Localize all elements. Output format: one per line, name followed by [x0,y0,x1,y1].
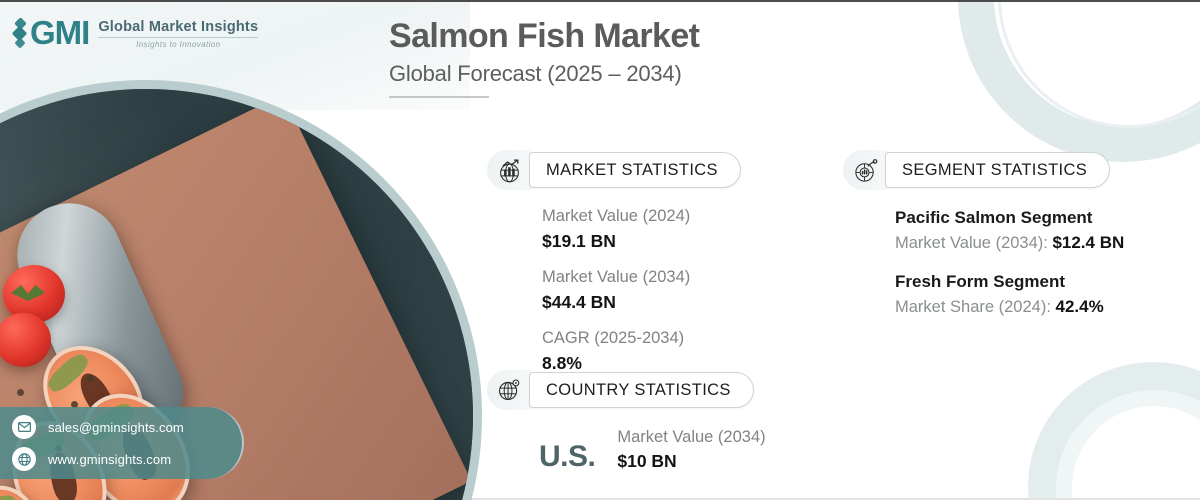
logo-divider [98,37,258,38]
stat-label: Market Value (2034) [542,265,741,289]
stat-value: $44.4 BN [542,290,741,314]
contact-website-text: www.gminsights.com [48,452,171,467]
pie-chart-arrow-icon [843,150,887,190]
country-statistics-header: COUNTRY STATISTICS [487,370,766,410]
stat-value: $19.1 BN [542,229,741,253]
segment-metric: Market Value (2034): $12.4 BN [895,230,1124,256]
segment-metric: Market Share (2024): 42.4% [895,294,1124,320]
contact-bar: sales@gminsights.com www.gminsights.com [0,407,244,479]
market-statistics-section: MARKET STATISTICS Market Value (2024) $1… [487,150,741,387]
envelope-icon [12,415,36,439]
segment-statistics-list: Pacific Salmon Segment Market Value (203… [843,206,1124,320]
logo-tagline: Insights to Innovation [98,40,258,49]
market-statistics-list: Market Value (2024) $19.1 BN Market Valu… [487,204,741,375]
stat-label: CAGR (2025-2034) [542,326,741,350]
logo-monogram: GMI [30,16,89,50]
segment-metric-value: 42.4% [1056,297,1104,316]
top-border-line [0,0,1200,2]
country-metric-label: Market Value (2034) [617,426,765,449]
contact-email-row[interactable]: sales@gminsights.com [12,415,242,439]
page-subtitle: Global Forecast (2025 – 2034) [389,60,699,88]
segment-metric-label: Market Share (2024): [895,298,1056,316]
segment-metric-label: Market Value (2034): [895,234,1052,252]
globe-pin-icon [487,370,531,410]
segment-name: Pacific Salmon Segment [895,206,1124,230]
country-code: U.S. [539,440,595,474]
infographic-canvas: GMI Global Market Insights Insights to I… [0,0,1200,500]
stat-item: Market Value (2024) $19.1 BN [542,204,741,253]
contact-website-row[interactable]: www.gminsights.com [12,447,242,471]
segment-statistics-section: SEGMENT STATISTICS Pacific Salmon Segmen… [843,150,1124,334]
segment-statistics-title: SEGMENT STATISTICS [885,152,1110,188]
country-statistics-section: COUNTRY STATISTICS U.S. Market Value (20… [487,370,766,474]
segment-statistics-header: SEGMENT STATISTICS [843,150,1124,190]
segment-name: Fresh Form Segment [895,270,1124,294]
page-title: Salmon Fish Market [389,16,699,56]
market-statistics-title: MARKET STATISTICS [529,152,741,188]
stat-item: Market Value (2034) $44.4 BN [542,265,741,314]
stat-item: CAGR (2025-2034) 8.8% [542,326,741,375]
gmi-logo[interactable]: GMI Global Market Insights Insights to I… [12,16,258,50]
stat-label: Market Value (2024) [542,204,741,228]
contact-email-text: sales@gminsights.com [48,420,184,435]
segment-metric-value: $12.4 BN [1052,233,1124,252]
country-metric-value: $10 BN [617,449,765,473]
logo-wordmark: Global Market Insights Insights to Innov… [98,18,258,49]
country-statistics-title: COUNTRY STATISTICS [529,372,754,408]
logo-diamond-mark-icon [12,16,28,50]
logo-company-name: Global Market Insights [98,19,258,35]
country-metric: Market Value (2034) $10 BN [617,426,765,474]
segment-item: Pacific Salmon Segment Market Value (203… [895,206,1124,256]
country-statistics-row: U.S. Market Value (2034) $10 BN [487,426,766,474]
globe-chart-icon [487,150,531,190]
market-statistics-header: MARKET STATISTICS [487,150,741,190]
globe-icon [12,447,36,471]
header-block: Salmon Fish Market Global Forecast (2025… [389,16,699,98]
segment-item: Fresh Form Segment Market Share (2024): … [895,270,1124,320]
